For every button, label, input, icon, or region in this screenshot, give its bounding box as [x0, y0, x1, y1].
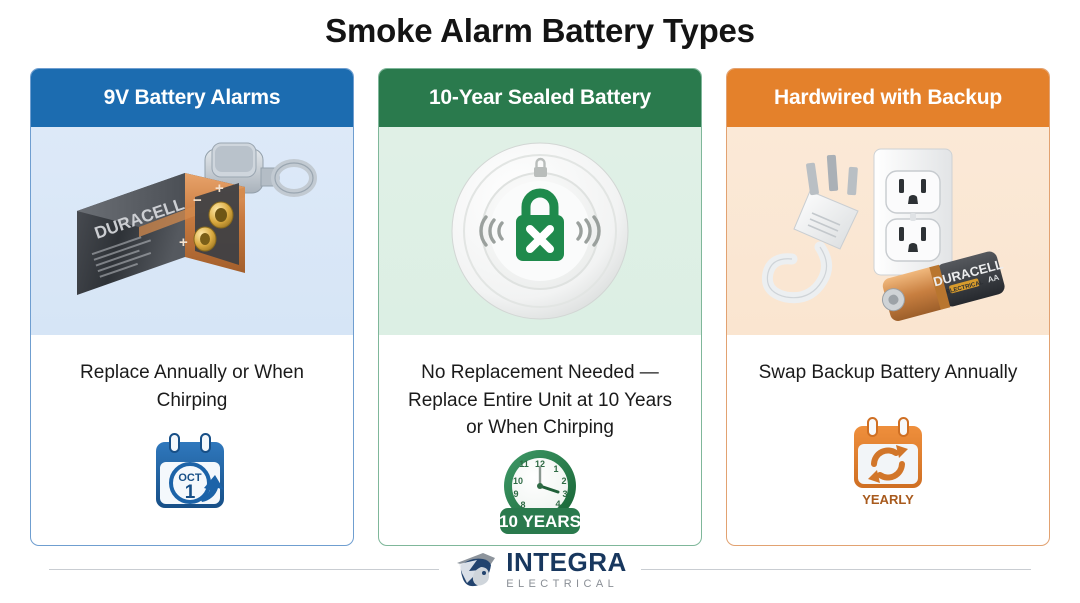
card-caption-9v: Replace Annually or When Chirping — [31, 335, 353, 414]
card-header-9v: 9V Battery Alarms — [31, 69, 353, 127]
footer-rule-left — [49, 569, 439, 570]
svg-text:−: − — [193, 192, 202, 209]
logo-brand: INTEGRA — [506, 549, 627, 575]
logo-tagline: ELECTRICAL — [506, 579, 627, 590]
wall-outlet-icon — [874, 149, 952, 275]
plug-outlet-aa-battery-icon: DURACELL ELECTRICAL AA — [748, 133, 1028, 329]
card-10-year-sealed-battery: 10-Year Sealed Battery — [378, 68, 702, 546]
calendar-oct-1-icon: OCT 1 — [146, 428, 238, 520]
calendar-day-label: 1 — [185, 482, 196, 503]
svg-text:3: 3 — [562, 489, 567, 499]
card-image-smoke-detector — [379, 127, 701, 335]
card-image-plug-outlet-battery: DURACELL ELECTRICAL AA — [727, 127, 1049, 335]
power-plug-icon — [767, 155, 858, 298]
svg-text:4: 4 — [555, 499, 560, 509]
svg-text:11: 11 — [519, 459, 529, 469]
footer: INTEGRA ELECTRICAL — [0, 545, 1080, 593]
svg-text:10: 10 — [513, 476, 523, 486]
svg-text:2: 2 — [561, 476, 566, 486]
integra-mascot-icon — [453, 549, 497, 589]
card-badge-9v: OCT 1 — [31, 414, 353, 545]
integra-electrical-logo: INTEGRA ELECTRICAL — [439, 549, 641, 590]
9v-battery-icon: DURACELL + − + — [67, 153, 307, 323]
card-header-10-year: 10-Year Sealed Battery — [379, 69, 701, 127]
footer-rule-right — [641, 569, 1031, 570]
svg-text:1: 1 — [553, 464, 558, 474]
card-image-9v-battery: DURACELL + − + — [31, 127, 353, 335]
card-badge-10-year: 12 1 2 3 4 11 10 9 8 10 YEARS — [379, 442, 701, 546]
svg-text:+: + — [179, 234, 188, 251]
clock-years-label: 10 YEARS — [499, 512, 581, 531]
card-9v-battery-alarms: 9V Battery Alarms — [30, 68, 354, 546]
calendar-yearly-refresh-icon: YEARLY — [842, 412, 934, 508]
card-badge-hardwired: YEARLY — [727, 387, 1049, 545]
cards-row: 9V Battery Alarms — [30, 68, 1050, 546]
svg-text:9: 9 — [513, 489, 518, 499]
card-header-hardwired: Hardwired with Backup — [727, 69, 1049, 127]
card-caption-hardwired: Swap Backup Battery Annually — [727, 335, 1049, 387]
clock-10-years-icon: 12 1 2 3 4 11 10 9 8 10 YEARS — [488, 442, 592, 538]
smoke-detector-icon — [440, 131, 640, 331]
yearly-label: YEARLY — [862, 492, 914, 507]
page-title: Smoke Alarm Battery Types — [0, 12, 1080, 50]
card-hardwired-with-backup: Hardwired with Backup — [726, 68, 1050, 546]
svg-text:+: + — [215, 180, 224, 197]
card-caption-10-year: No Replacement Needed — Replace Entire U… — [379, 335, 701, 442]
